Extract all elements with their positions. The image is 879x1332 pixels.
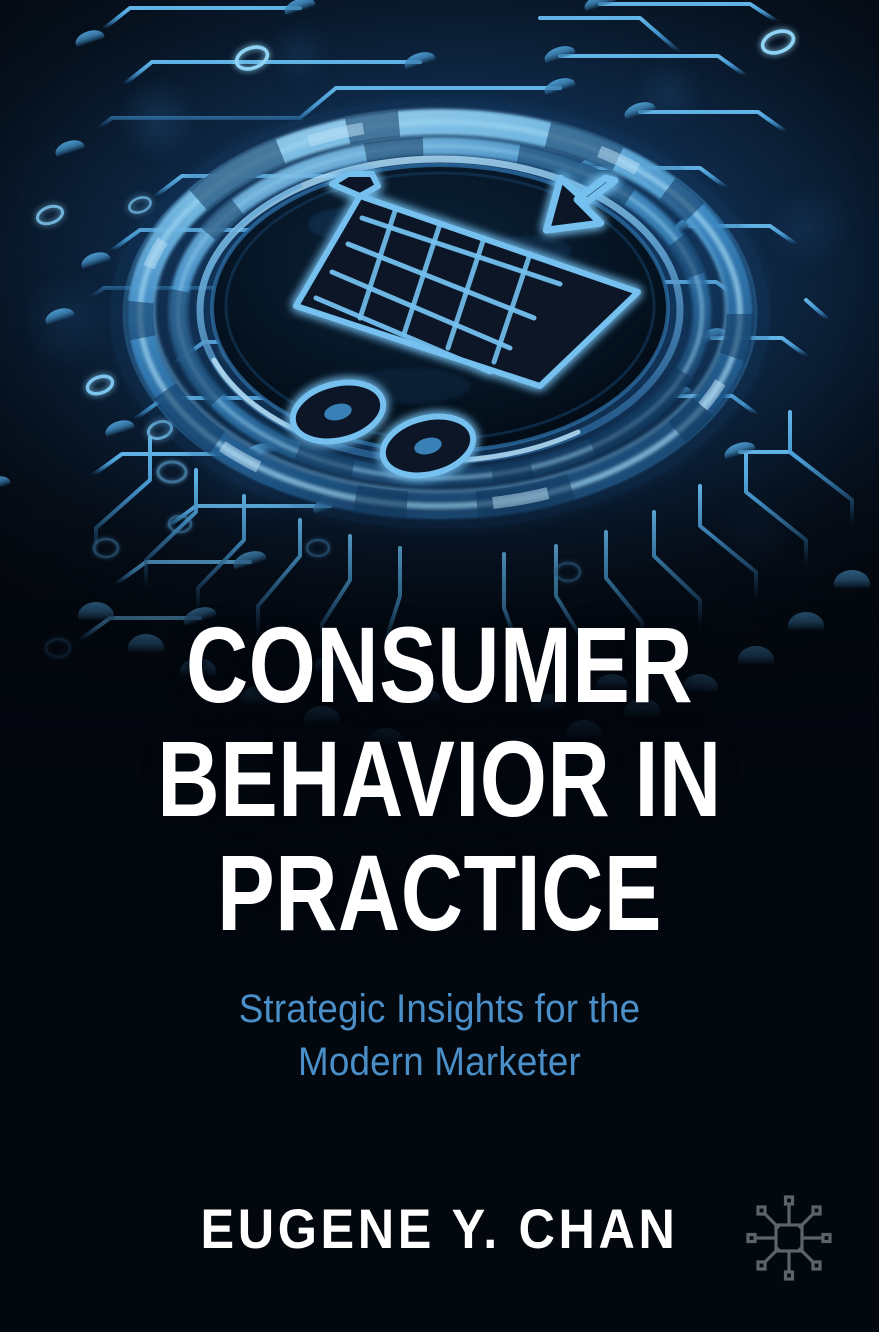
subtitle-line-2: Modern Marketer <box>35 1036 844 1089</box>
title-line-3: PRACTICE <box>88 840 791 946</box>
author-name: EUGENE Y. CHAN <box>44 1196 835 1261</box>
subtitle: Strategic Insights for the Modern Market… <box>35 983 844 1089</box>
palgrave-macmillan-logo <box>741 1190 837 1286</box>
title-line-1: CONSUMER <box>88 612 791 718</box>
title-block: CONSUMER BEHAVIOR IN PRACTICE Strategic … <box>0 612 879 1089</box>
author-row: EUGENE Y. CHAN <box>0 1188 879 1278</box>
subtitle-line-1: Strategic Insights for the <box>35 983 844 1036</box>
book-cover: CONSUMER BEHAVIOR IN PRACTICE Strategic … <box>0 0 879 1332</box>
title-line-2: BEHAVIOR IN <box>88 726 791 832</box>
